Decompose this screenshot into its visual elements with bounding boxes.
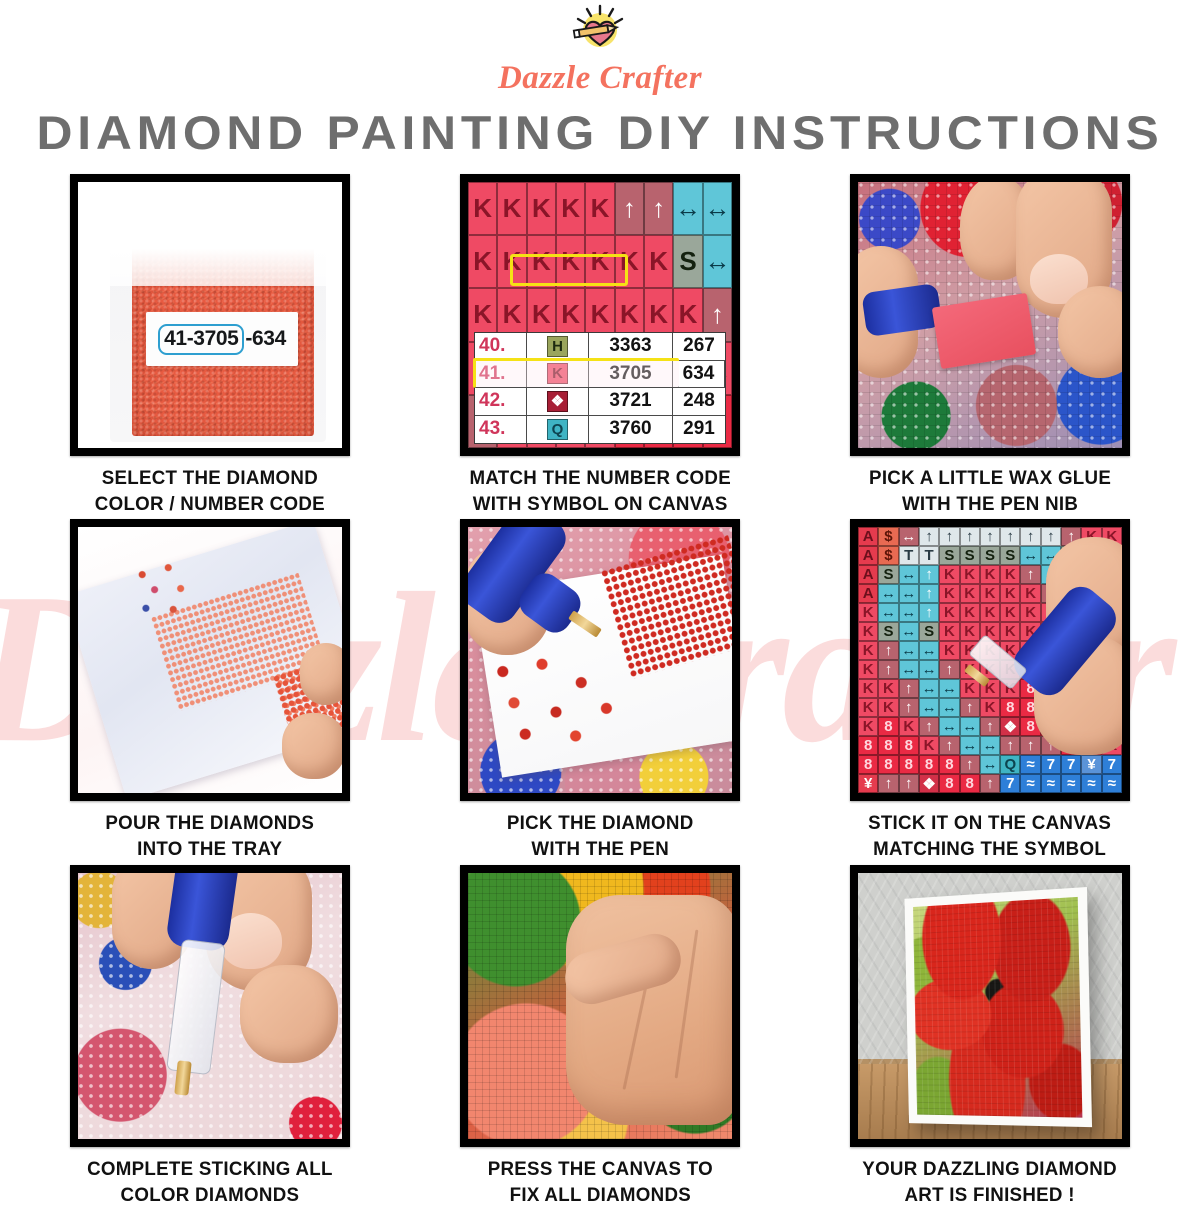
caption-line-2: WITH SYMBOL ON CANVAS [469,492,731,518]
red-poppy-artwork [913,897,1082,1118]
finger [282,713,342,779]
caption-line-2: MATCHING THE SYMBOL [868,837,1111,863]
canvas-cell: ↑ [980,774,1000,793]
caption-line-2: INTO THE TRAY [106,837,315,863]
canvas-cell: ↔ [899,584,919,603]
step-card-6: A$↔↑↑↑↑↑↑↑↑KKA$TTSSSS↔↔S↔KAS↔↑KKKK↑↔↔↔KA… [795,519,1185,862]
tray-photo [78,527,342,793]
step-caption-7: COMPLETE STICKING ALL COLOR DIAMONDS [87,1157,333,1208]
legend-row-dmc: 3705 [589,361,673,389]
canvas-cell: K [899,717,919,736]
canvas-cell: K [878,679,898,698]
canvas-cell: K [527,235,556,288]
canvas-cell: K [858,641,878,660]
table-row: 43. Q 3760 291 [475,416,725,444]
step-image-frame-2: KKKKK↑↑↔↔KKKKKKKS↔KKKKKKKK↑KKKKKK88K↑KKK… [460,174,740,456]
canvas-cell: K [919,736,939,755]
canvas-cell: Q [1000,755,1020,774]
canvas-cell: K [939,622,959,641]
canvas-cell: K [858,717,878,736]
canvas-cell: ≈ [1102,774,1122,793]
diamond-bag-photo: 41-3705-634 [78,182,342,448]
canvas-cell: K [960,622,980,641]
canvas-cell: 7 [1000,774,1020,793]
canvas-cell: ↑ [1020,736,1040,755]
canvas-cell: K [1000,584,1020,603]
wax-glue-photo [858,182,1122,448]
caption-line-2: COLOR DIAMONDS [87,1183,333,1208]
canvas-cell: ≈ [1041,774,1061,793]
table-row: 40. H 3363 267 [475,333,725,361]
canvas-cell: ↑ [899,774,919,793]
caption-line-1: PRESS THE CANVAS TO [487,1157,712,1183]
step-image-frame-3 [850,174,1130,456]
canvas-cell: ↔ [980,755,1000,774]
canvas-cell: ↔ [939,679,959,698]
step-card-7: COMPLETE STICKING ALL COLOR DIAMONDS [15,865,405,1208]
bag-top-seal [110,204,326,286]
legend-row-dmc: 3363 [589,333,673,361]
canvas-cell: ↑ [960,755,980,774]
canvas-cell: ¥ [858,774,878,793]
canvas-cell: 7 [1061,755,1081,774]
canvas-cell: 8 [939,774,959,793]
canvas-cell: ↔ [939,717,959,736]
canvas-cell: ↑ [899,679,919,698]
legend-symbol-swatch: Q [547,419,568,440]
canvas-cell: 8 [919,755,939,774]
canvas-cell: S [878,565,898,584]
legend-row-dmc: 3760 [589,416,673,444]
legend-row-dmc: 3721 [589,388,673,416]
caption-line-1: COMPLETE STICKING ALL [87,1157,333,1183]
diamond-bag: 41-3705-634 [110,204,326,442]
loose-diamonds [486,655,626,747]
step-card-4: POUR THE DIAMONDS INTO THE TRAY [15,519,405,862]
caption-line-2: FIX ALL DIAMONDS [487,1183,712,1208]
canvas-cell: ↑ [919,584,939,603]
legend-row-number: 42. [475,388,527,416]
canvas-cell: K [980,603,1000,622]
legend-row-number: 41. [475,361,527,389]
canvas-cell: K [615,235,644,288]
canvas-cell: ↔ [919,698,939,717]
step-image-frame-1: 41-3705-634 [70,174,350,456]
canvas-cell: ↑ [919,603,939,622]
canvas-cell: ↑ [615,182,644,235]
complete-sticking-photo [78,873,342,1139]
canvas-cell: K [858,603,878,622]
step-card-5: PICK THE DIAMOND WITH THE PEN [405,519,795,862]
canvas-cell: $ [878,546,898,565]
caption-line-2: COLOR / NUMBER CODE [95,492,325,518]
white-picture-frame [905,887,1093,1127]
step-card-9: YOUR DAZZLING DIAMOND ART IS FINISHED ! [795,865,1185,1208]
canvas-cell: ↑ [919,717,939,736]
finished-artwork-photo [858,873,1122,1139]
canvas-cell: K [468,182,497,235]
canvas-cell: S [980,546,1000,565]
canvas-cell: ↑ [1000,736,1020,755]
canvas-cell: 7 [1102,755,1122,774]
legend-row-symbol: ❖ [527,388,589,416]
canvas-cell: ↑ [960,698,980,717]
canvas-cell: K [939,603,959,622]
canvas-cell: K [858,698,878,717]
canvas-cell: K [939,565,959,584]
steps-grid: 41-3705-634 SELECT THE DIAMOND COLOR / N… [0,174,1200,1208]
canvas-cell: 8 [939,755,959,774]
caption-line-1: PICK THE DIAMOND [507,811,694,837]
color-legend-table: 40. H 3363 267 41. K 3705 634 42. ❖ [474,332,726,444]
step-image-frame-6: A$↔↑↑↑↑↑↑↑↑KKA$TTSSSS↔↔S↔KAS↔↑KKKK↑↔↔↔KA… [850,519,1130,801]
canvas-cell: K [556,235,585,288]
canvas-cell: ↔ [703,235,732,288]
caption-line-2: ART IS FINISHED ! [863,1183,1118,1208]
brand-logo: Dazzle Crafter [0,4,1200,97]
canvas-cell: $ [878,527,898,546]
canvas-cell: K [1000,622,1020,641]
scattered-diamonds [136,563,198,621]
canvas-cell: ↑ [960,527,980,546]
legend-row-number: 43. [475,416,527,444]
canvas-cell: ↔ [899,565,919,584]
step-card-2: KKKKK↑↑↔↔KKKKKKKS↔KKKKKKKK↑KKKKKK88K↑KKK… [405,174,795,517]
step-caption-5: PICK THE DIAMOND WITH THE PEN [507,811,694,862]
canvas-cell: ↔ [878,603,898,622]
canvas-cell: K [980,698,1000,717]
step-card-1: 41-3705-634 SELECT THE DIAMOND COLOR / N… [15,174,405,517]
caption-line-1: YOUR DAZZLING DIAMOND [863,1157,1118,1183]
canvas-cell: K [556,182,585,235]
canvas-cell: ↔ [1020,546,1040,565]
finger [240,965,338,1063]
step-caption-9: YOUR DAZZLING DIAMOND ART IS FINISHED ! [863,1157,1118,1208]
canvas-cell: K [980,584,1000,603]
step-card-3: PICK A LITTLE WAX GLUE WITH THE PEN NIB [795,174,1185,517]
step-image-frame-8 [460,865,740,1147]
canvas-cell: 8 [858,755,878,774]
canvas-cell: T [919,546,939,565]
canvas-cell: 8 [899,755,919,774]
stick-on-canvas-photo: A$↔↑↑↑↑↑↑↑↑KKA$TTSSSS↔↔S↔KAS↔↑KKKK↑↔↔↔KA… [858,527,1122,793]
canvas-cell: ¥ [1081,755,1101,774]
legend-row-count: 267 [673,333,725,361]
bag-label: 41-3705-634 [146,312,298,366]
step-image-frame-4 [70,519,350,801]
page-title: DIAMOND PAINTING DIY INSTRUCTIONS [0,105,1200,160]
bag-label-text: 41-3705-634 [158,324,286,355]
canvas-cell: ↔ [899,603,919,622]
canvas-cell: 8 [878,736,898,755]
caption-line-1: SELECT THE DIAMOND [95,466,325,492]
canvas-cell: K [497,235,526,288]
canvas-cell: K [585,182,614,235]
canvas-cell: ❖ [919,774,939,793]
canvas-cell: K [878,698,898,717]
canvas-cell: 8 [878,755,898,774]
canvas-cell: ↔ [980,736,1000,755]
canvas-cell: K [1020,584,1040,603]
canvas-cell: ↑ [644,182,673,235]
canvas-cell: 8 [899,736,919,755]
canvas-cell: ↑ [919,527,939,546]
canvas-cell: 8 [1000,698,1020,717]
canvas-cell: ↑ [1041,527,1061,546]
canvas-cell: ↑ [1020,527,1040,546]
canvas-cell: ≈ [1061,774,1081,793]
legend-symbol-swatch: K [547,363,568,384]
canvas-cell: ↑ [939,527,959,546]
canvas-cell: ❖ [1000,717,1020,736]
canvas-cell: K [468,235,497,288]
step-image-frame-5 [460,519,740,801]
canvas-cell: S [878,622,898,641]
canvas-cell: ↑ [899,698,919,717]
canvas-cell: K [585,235,614,288]
canvas-cell: K [644,235,673,288]
canvas-cell: ↔ [919,660,939,679]
canvas-cell: ↔ [899,527,919,546]
canvas-cell: 7 [1041,755,1061,774]
canvas-cell: K [960,603,980,622]
legend-row-count: 291 [673,416,725,444]
canvas-cell: ↔ [899,660,919,679]
step-image-frame-7 [70,865,350,1147]
canvas-cell: K [527,182,556,235]
canvas-cell: T [899,546,919,565]
canvas-cell: ≈ [1020,774,1040,793]
canvas-cell: K [497,182,526,235]
finger [300,643,342,705]
legend-row-symbol: Q [527,416,589,444]
step-caption-2: MATCH THE NUMBER CODE WITH SYMBOL ON CAN… [469,466,731,517]
canvas-cell: A [858,565,878,584]
step-caption-4: POUR THE DIAMONDS INTO THE TRAY [106,811,315,862]
canvas-cell: K [939,584,959,603]
canvas-cell: ↔ [919,641,939,660]
caption-line-1: STICK IT ON THE CANVAS [868,811,1111,837]
canvas-cell: K [980,565,1000,584]
canvas-cell: K [858,679,878,698]
step-caption-1: SELECT THE DIAMOND COLOR / NUMBER CODE [95,466,325,517]
canvas-cell: ↔ [899,641,919,660]
canvas-cell: ↑ [1000,527,1020,546]
canvas-cell: ↑ [919,565,939,584]
canvas-cell: K [858,660,878,679]
canvas-cell: ↔ [960,717,980,736]
canvas-cell: ↔ [878,584,898,603]
canvas-cell: A [858,527,878,546]
caption-line-1: MATCH THE NUMBER CODE [469,466,731,492]
caption-line-2: WITH THE PEN [507,837,694,863]
canvas-cell: S [960,546,980,565]
heart-with-pencil-sunburst-icon [569,4,631,59]
page-header: Dazzle Crafter DIAMOND PAINTING DIY INST… [0,0,1200,160]
caption-line-1: POUR THE DIAMONDS [106,811,315,837]
symbol-chart-photo: KKKKK↑↑↔↔KKKKKKKS↔KKKKKKKK↑KKKKKK88K↑KKK… [468,182,732,448]
canvas-cell: K [858,622,878,641]
pick-diamond-photo [468,527,732,793]
canvas-cell: 8 [878,717,898,736]
step-image-frame-9 [850,865,1130,1147]
canvas-cell: ↑ [980,717,1000,736]
canvas-cell: ↑ [1020,565,1040,584]
canvas-cell: 8 [960,774,980,793]
canvas-cell: K [960,584,980,603]
canvas-cell: ↔ [919,679,939,698]
press-canvas-photo [468,873,732,1139]
caption-line-1: PICK A LITTLE WAX GLUE [869,466,1111,492]
canvas-cell: K [1000,565,1020,584]
canvas-cell: ↑ [878,641,898,660]
canvas-cell: 8 [858,736,878,755]
canvas-cell: K [939,641,959,660]
canvas-cell: ↔ [939,698,959,717]
bag-code-highlight: 41-3705 [158,324,244,355]
canvas-cell: A [858,584,878,603]
step-caption-8: PRESS THE CANVAS TO FIX ALL DIAMONDS [487,1157,712,1208]
step-card-8: PRESS THE CANVAS TO FIX ALL DIAMONDS [405,865,795,1208]
canvas-cell: S [1000,546,1020,565]
pressing-hand [566,895,732,1125]
canvas-cell: A [858,546,878,565]
canvas-cell: S [919,622,939,641]
legend-row-symbol: K [527,361,589,389]
legend-row-count: 248 [673,388,725,416]
canvas-cell: ↔ [673,182,702,235]
caption-line-2: WITH THE PEN NIB [869,492,1111,518]
legend-row-symbol: H [527,333,589,361]
canvas-cell: ↔ [960,736,980,755]
legend-row-count: 634 [673,361,725,389]
canvas-cell: ↑ [980,527,1000,546]
canvas-cell: ↔ [899,622,919,641]
legend-symbol-swatch: H [547,336,568,357]
legend-symbol-swatch: ❖ [547,391,568,412]
table-row: 41. K 3705 634 [475,361,725,389]
step-caption-6: STICK IT ON THE CANVAS MATCHING THE SYMB… [868,811,1111,862]
canvas-cell: K [960,565,980,584]
canvas-cell: ≈ [1081,774,1101,793]
canvas-cell: S [939,546,959,565]
brand-name: Dazzle Crafter [498,60,702,97]
canvas-cell: ↑ [939,660,959,679]
bag-code-suffix: -634 [245,327,285,351]
table-row: 42. ❖ 3721 248 [475,388,725,416]
step-caption-3: PICK A LITTLE WAX GLUE WITH THE PEN NIB [869,466,1111,517]
canvas-cell: S [673,235,702,288]
legend-row-number: 40. [475,333,527,361]
canvas-cell: ≈ [1020,755,1040,774]
canvas-cell: ↑ [878,774,898,793]
canvas-cell: ↔ [703,182,732,235]
canvas-cell: ↑ [939,736,959,755]
canvas-cell: K [960,679,980,698]
canvas-cell: K [1020,603,1040,622]
canvas-cell: ↑ [878,660,898,679]
canvas-cell: K [1000,603,1020,622]
